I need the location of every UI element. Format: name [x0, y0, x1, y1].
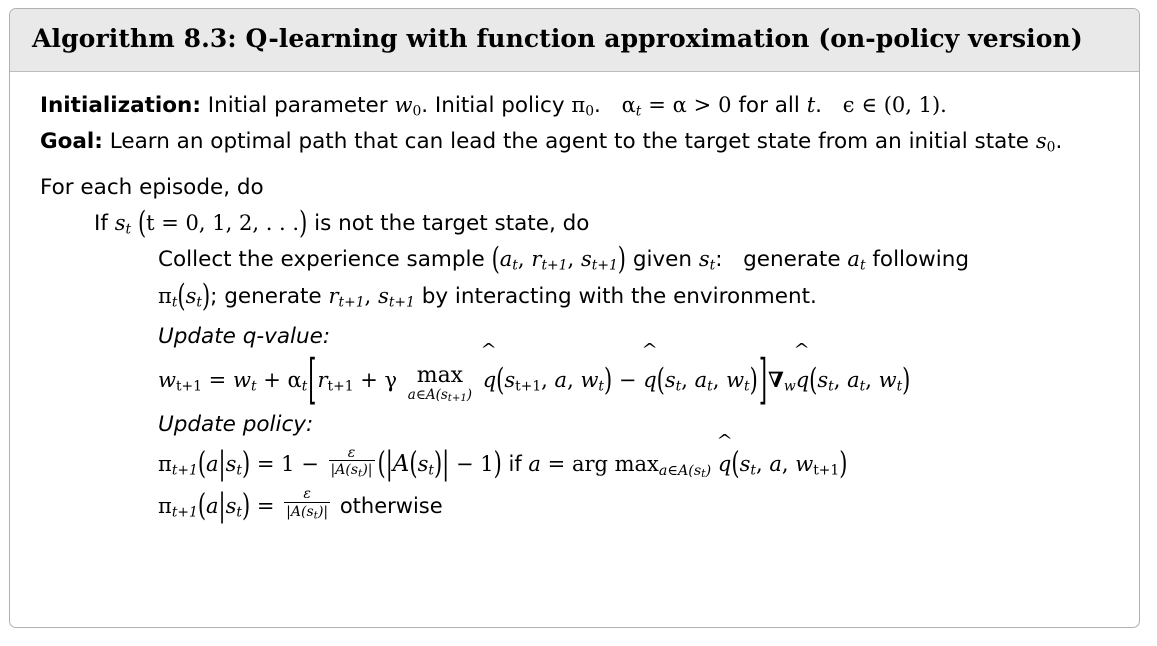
algorithm-body: Initialization: Initial parameter w0. In… — [10, 72, 1139, 537]
initialization-text-3: . — [594, 93, 601, 118]
collect-text-4: following — [872, 247, 969, 272]
pi1-minus-2: − — [456, 452, 474, 476]
cond-paren-open: ( — [138, 198, 146, 249]
pi1-group-open: ( — [378, 436, 386, 494]
initialization-period: . — [940, 93, 947, 117]
epsilon-fraction-1: ε |A(st)| — [329, 446, 375, 480]
pi2-conditional-bar: | — [219, 477, 226, 537]
pi1-a-var: a — [528, 452, 541, 476]
initialization-text-5: . — [815, 93, 822, 118]
loop-line: For each episode, do — [40, 170, 1119, 206]
pi2-equals: = — [257, 494, 275, 518]
q1-paren-close: ) — [604, 343, 612, 416]
update-q-value-equation: wt+1 = wt + αt[rt+1 + γ max a∈A(st+1) q(… — [158, 355, 1119, 405]
pi1-equals: = — [257, 452, 275, 476]
collect-line-2: πt(st); generate rt+1, st+1 by interacti… — [158, 279, 1119, 315]
math-pi1-q-s: st — [740, 452, 756, 476]
fraction-numerator: ε — [346, 446, 358, 461]
q3-paren-close: ) — [902, 343, 910, 416]
math-pi2-a: a — [206, 494, 219, 518]
q2-comma-2: , — [713, 368, 720, 392]
bracket-open: [ — [308, 316, 316, 444]
initialization-text-4: for all — [738, 93, 800, 118]
math-q1-a: a — [555, 368, 568, 392]
policy-equation-1: πt+1(a|st) = 1 − ε |A(st)| (|A(st)| − 1)… — [158, 443, 1119, 487]
update-policy-label: Update policy: — [158, 407, 1119, 443]
max-limit: a∈A(st+1) — [408, 388, 472, 405]
goal-paragraph: Goal: Learn an optimal path that can lea… — [40, 124, 1119, 160]
pi1-if-keyword: if — [509, 452, 522, 476]
algorithm-box: Algorithm 8.3: Q-learning with function … — [9, 8, 1140, 628]
math-q-hat-2: q — [643, 355, 656, 405]
q3-paren-open: ( — [809, 343, 817, 416]
math-alpha-t-eq: αt — [288, 368, 308, 392]
pi1-abs-close: | — [442, 435, 449, 495]
pi2-paren-open: ( — [198, 478, 206, 536]
math-r-reward: rt+1 — [317, 368, 353, 392]
pi1-q-comma-1: , — [756, 452, 763, 476]
pi1-q-comma-2: , — [782, 452, 789, 476]
pi1-one-2: 1 — [480, 452, 493, 476]
pi1-one: 1 — [281, 452, 294, 476]
pi1-q-close: ) — [839, 436, 847, 494]
tuple-comma-1: , — [518, 247, 525, 271]
cond-paren-close: ) — [299, 198, 307, 249]
math-greater-than: > — [694, 93, 712, 117]
pi1-equals-2: = — [548, 452, 566, 476]
math-a-t: at — [500, 247, 518, 271]
if-rest: is not the target state, do — [314, 211, 589, 236]
fraction-numerator: ε — [301, 487, 313, 502]
math-pi0: π0 — [571, 93, 594, 117]
math-interval: (0, 1) — [884, 93, 940, 117]
math-s0: s0 — [1036, 129, 1056, 153]
bracket-close: ] — [759, 316, 767, 444]
collect-text-1: Collect the experience sample — [158, 247, 485, 272]
plus-sign-1: + — [263, 368, 281, 392]
goal-period: . — [1055, 129, 1062, 154]
epsilon-fraction-2: ε |A(st)| — [284, 487, 330, 521]
fraction-denominator: |A(st)| — [329, 460, 375, 480]
q2-paren-open: ( — [657, 343, 665, 416]
goal-text: Learn an optimal path that can lead the … — [110, 129, 1029, 154]
math-pi1-a: a — [206, 452, 219, 476]
if-line: If st (t = 0, 1, 2, . . .) is not the ta… — [94, 206, 1119, 242]
collect-line2-comma: , — [365, 284, 372, 308]
math-equals: = — [648, 93, 666, 117]
minus-sign: − — [619, 368, 637, 392]
math-q2-w: wt — [726, 368, 750, 392]
initialization-text-1: Initial parameter — [208, 93, 388, 118]
math-gamma: γ — [385, 368, 398, 392]
math-q2-s: st — [665, 368, 681, 392]
argmax-operator: arg maxa∈A(st) — [572, 452, 711, 476]
math-pi-next-2: πt+1 — [158, 494, 198, 518]
if-condition: t = 0, 1, 2, . . . — [146, 211, 299, 235]
pi-arg-open: ( — [177, 271, 185, 322]
math-q-hat-3: q — [796, 355, 809, 405]
pi1-A-open: ( — [409, 436, 417, 494]
q3-comma-1: , — [834, 368, 841, 392]
pi1-abs-open: | — [386, 435, 393, 495]
policy-equation-2: πt+1(a|st) = ε |A(st)| otherwise — [158, 487, 1119, 527]
tuple-paren-close: ) — [618, 235, 626, 286]
q1-paren-open: ( — [496, 343, 504, 416]
math-action-set-A: A — [393, 451, 410, 477]
collect-text-2: given — [633, 247, 692, 272]
max-label: max — [417, 365, 463, 387]
math-pi2-s: st — [226, 494, 242, 518]
math-nabla: ∇w — [768, 367, 796, 392]
pi2-paren-close: ) — [242, 478, 250, 536]
math-alpha: α — [673, 93, 687, 117]
math-pi1-s: st — [226, 452, 242, 476]
math-w-next: wt+1 — [158, 368, 202, 392]
pi2-otherwise: otherwise — [340, 494, 443, 518]
tuple-paren-open: ( — [492, 235, 500, 286]
math-q2-a: at — [695, 368, 713, 392]
max-operator: max a∈A(st+1) — [408, 365, 472, 405]
math-r-next: rt+1 — [329, 284, 365, 308]
collect-text-3: generate — [743, 247, 840, 272]
math-pi1-q-a: a — [769, 452, 782, 476]
math-element-of: ∈ — [861, 93, 877, 117]
math-s-next: st+1 — [378, 284, 415, 308]
math-pi-t: πt — [158, 284, 177, 308]
math-pi-next-1: πt+1 — [158, 452, 198, 476]
q1-comma-2: , — [567, 368, 574, 392]
math-q-hat-policy: q — [718, 445, 731, 485]
math-given-s-t: st — [699, 247, 715, 271]
math-alpha-t: αt — [622, 93, 642, 117]
math-q3-a: at — [847, 368, 865, 392]
math-w0: w0 — [394, 93, 421, 117]
goal-label: Goal: — [40, 129, 103, 154]
math-q1-w: wt — [580, 368, 604, 392]
collect-line2-tail: by interacting with the environment. — [422, 284, 817, 309]
pi1-minus: − — [301, 452, 319, 476]
math-r-t1: rt+1 — [531, 247, 567, 271]
pi1-group-close: ) — [494, 436, 502, 494]
pi1-q-open: ( — [731, 436, 739, 494]
math-epsilon: ϵ — [843, 93, 855, 117]
math-q1-s: st+1 — [504, 368, 541, 392]
math-generate-a-t: at — [847, 247, 865, 271]
plus-sign-2: + — [360, 368, 378, 392]
math-zero: 0 — [718, 93, 731, 117]
math-A-s: st — [418, 452, 434, 476]
math-w-t: wt — [233, 368, 257, 392]
math-s-t1: st+1 — [581, 247, 618, 271]
math-t: t — [807, 93, 815, 117]
q3-comma-2: , — [865, 368, 872, 392]
collect-semicolon: ; — [210, 284, 217, 309]
update-q-value-label: Update q-value: — [158, 319, 1119, 355]
pi-arg-close: ) — [202, 271, 210, 322]
q2-paren-close: ) — [750, 343, 758, 416]
math-q3-s: st — [817, 368, 833, 392]
q2-comma-1: , — [681, 368, 688, 392]
algorithm-title: Algorithm 8.3: Q-learning with function … — [32, 23, 1117, 55]
if-keyword: If — [94, 211, 108, 236]
initialization-label: Initialization: — [40, 93, 201, 118]
tuple-comma-2: , — [567, 247, 574, 271]
initialization-paragraph: Initialization: Initial parameter w0. In… — [40, 88, 1119, 124]
initialization-text-2: . Initial policy — [421, 93, 564, 118]
eq-sign-1: = — [209, 368, 227, 392]
collect-colon: : — [715, 247, 722, 272]
fraction-denominator: |A(st)| — [284, 502, 330, 522]
math-q-hat-1: q — [483, 355, 496, 405]
pi1-A-close: ) — [434, 436, 442, 494]
collect-line2-text: generate — [224, 284, 321, 309]
math-pi1-q-w: wt+1 — [795, 452, 839, 476]
math-s-t: st — [115, 211, 131, 235]
math-q3-w: wt — [879, 368, 903, 392]
math-pi-arg-s: st — [186, 284, 202, 308]
q1-comma-1: , — [541, 368, 548, 392]
algorithm-header: Algorithm 8.3: Q-learning with function … — [10, 9, 1139, 72]
